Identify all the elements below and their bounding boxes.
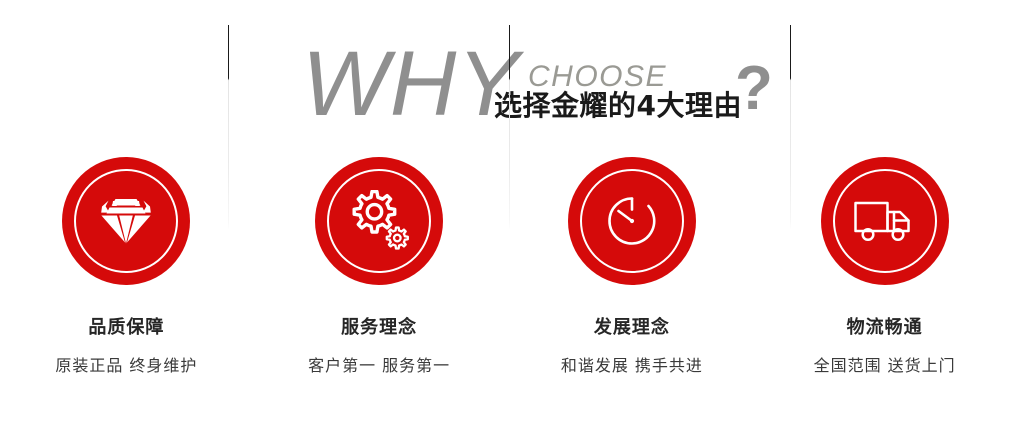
gears-icon bbox=[344, 186, 414, 256]
features-row: 品质保障 原装正品 终身维护 服务理念 bbox=[0, 145, 1011, 395]
headline-choose-text: CHOOSE bbox=[528, 62, 667, 92]
headline-chinese-text: 选择金耀的4大理由 bbox=[494, 92, 742, 120]
feature-subtitle: 和谐发展 携手共进 bbox=[561, 358, 703, 374]
feature-item-logistics[interactable]: 物流畅通 全国范围 送货上门 bbox=[758, 145, 1011, 395]
feature-subtitle: 原装正品 终身维护 bbox=[55, 358, 197, 374]
feature-icon-badge bbox=[315, 157, 443, 285]
diamond-icon bbox=[91, 186, 161, 256]
feature-icon-badge bbox=[62, 157, 190, 285]
column-divider bbox=[228, 25, 229, 230]
feature-item-service[interactable]: 服务理念 客户第一 服务第一 bbox=[253, 145, 506, 395]
timer-icon bbox=[597, 186, 667, 256]
feature-subtitle: 客户第一 服务第一 bbox=[308, 358, 450, 374]
feature-item-quality[interactable]: 品质保障 原装正品 终身维护 bbox=[0, 145, 253, 395]
headline-why-text: WHY bbox=[302, 38, 520, 130]
banner-header: WHY CHOOSE 选择金耀的4大理由 ? bbox=[0, 0, 1011, 145]
why-choose-us-banner: WHY CHOOSE 选择金耀的4大理由 ? bbox=[0, 0, 1011, 434]
feature-title: 发展理念 bbox=[594, 319, 670, 337]
feature-icon-badge bbox=[821, 157, 949, 285]
feature-title: 服务理念 bbox=[341, 319, 417, 337]
question-mark-glyph: ? bbox=[735, 58, 773, 120]
feature-item-development[interactable]: 发展理念 和谐发展 携手共进 bbox=[506, 145, 759, 395]
feature-icon-badge bbox=[568, 157, 696, 285]
feature-title: 品质保障 bbox=[88, 319, 164, 337]
delivery-truck-icon bbox=[850, 186, 920, 256]
feature-title: 物流畅通 bbox=[847, 319, 923, 337]
feature-subtitle: 全国范围 送货上门 bbox=[814, 358, 956, 374]
column-divider bbox=[509, 25, 510, 230]
column-divider bbox=[790, 25, 791, 230]
